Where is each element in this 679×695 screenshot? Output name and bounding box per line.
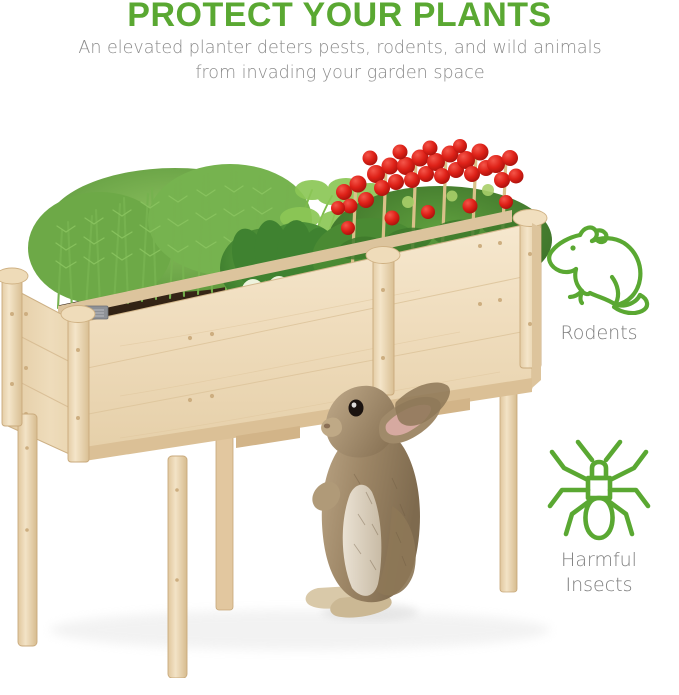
post-cap <box>366 247 400 264</box>
rabbit-ear-far <box>395 383 450 426</box>
pest-icon-column: Rodents <box>519 0 679 695</box>
rabbit-muzzle <box>321 418 342 437</box>
product-marketing-image: PROTECT YOUR PLANTS An elevated planter … <box>0 0 679 695</box>
pest-item-insects: Harmful Insects <box>519 438 679 597</box>
leg-front-mid <box>168 456 187 678</box>
pest-item-rodents: Rodents <box>519 215 679 346</box>
raised-garden-bed-illustration <box>0 118 560 678</box>
pest-label-rodents: Rodents <box>519 321 679 346</box>
leg-front-left <box>18 414 37 646</box>
post-cap <box>0 268 28 284</box>
rabbit-eye <box>349 400 364 417</box>
rodent-eye <box>570 245 575 250</box>
post-cap <box>61 306 95 323</box>
pest-label-insects: Harmful Insects <box>519 548 679 597</box>
insect-icon <box>544 438 654 542</box>
rabbit-illustration <box>296 374 456 624</box>
rabbit-nose <box>324 424 330 429</box>
rodent-icon <box>540 215 658 315</box>
rabbit-eye-highlight <box>352 402 357 407</box>
leg-back-left <box>216 418 233 610</box>
